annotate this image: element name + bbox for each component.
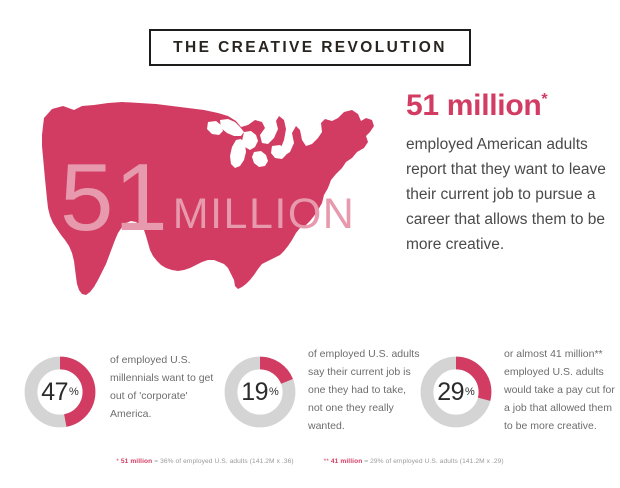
page-title: THE CREATIVE REVOLUTION <box>173 40 447 56</box>
headline-block: 51 million* employed American adults rep… <box>406 90 606 257</box>
donut-percent-symbol: % <box>69 386 79 398</box>
footnote-mark: ** <box>324 458 329 465</box>
stat-item: 29% or almost 41 million** employed U.S.… <box>420 344 620 435</box>
donut-chart: 47% <box>24 356 96 428</box>
donut-value: 47 <box>41 380 68 405</box>
donut-chart: 29% <box>420 356 492 428</box>
stat-description: of employed U.S. millennials want to get… <box>110 351 214 423</box>
stats-row: 47% of employed U.S. millennials want to… <box>0 344 620 435</box>
title-box: THE CREATIVE REVOLUTION <box>149 29 471 66</box>
headline-number: 51 million <box>406 89 541 122</box>
donut-percent-symbol: % <box>269 386 279 398</box>
donut-value-label: 47% <box>24 356 96 428</box>
donut-percent-symbol: % <box>465 386 475 398</box>
footnote-text: = 36% of employed U.S. adults (141.2M x … <box>152 458 293 465</box>
donut-value-label: 29% <box>420 356 492 428</box>
donut-chart: 19% <box>224 356 296 428</box>
headline-body: employed American adults report that the… <box>406 132 606 258</box>
stat-description: of employed U.S. adults say their curren… <box>308 345 420 435</box>
donut-value-label: 19% <box>224 356 296 428</box>
footnote-text: = 29% of employed U.S. adults (141.2M x … <box>362 458 503 465</box>
footnote-mark: * <box>116 458 119 465</box>
title-banner: THE CREATIVE REVOLUTION <box>0 29 620 66</box>
footnote-key: 41 million <box>331 458 362 465</box>
footnote-item: * 51 million = 36% of employed U.S. adul… <box>116 458 293 465</box>
footnotes: * 51 million = 36% of employed U.S. adul… <box>0 458 620 465</box>
stat-item: 19% of employed U.S. adults say their cu… <box>220 344 420 435</box>
headline: 51 million* <box>406 90 606 122</box>
usa-map: 51 MILLION <box>22 88 394 334</box>
donut-value: 29 <box>437 380 464 405</box>
stat-description: or almost 41 million** employed U.S. adu… <box>504 345 620 435</box>
donut-value: 19 <box>241 380 268 405</box>
headline-footnote-mark: * <box>541 91 547 108</box>
footnote-item: ** 41 million = 29% of employed U.S. adu… <box>324 458 504 465</box>
stat-item: 47% of employed U.S. millennials want to… <box>0 344 220 435</box>
usa-map-icon <box>22 88 394 334</box>
infographic-page: { "title": { "text": "THE CREATIVE REVOL… <box>0 0 620 488</box>
footnote-key: 51 million <box>121 458 152 465</box>
